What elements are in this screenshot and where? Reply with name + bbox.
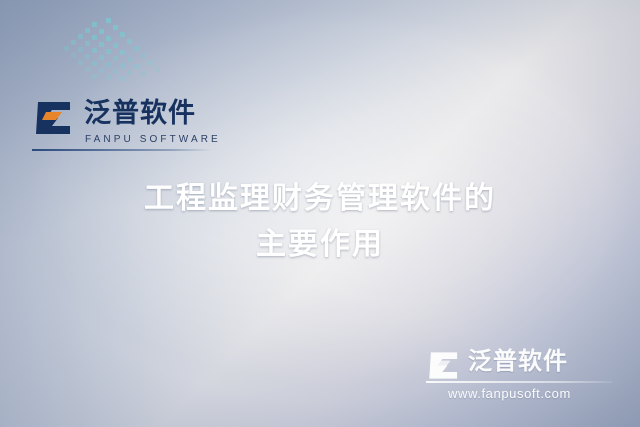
banner-image: 泛普软件 FANPU SOFTWARE 工程监理财务管理软件的 主要作用 泛普软… (0, 0, 640, 427)
headline-line-2: 主要作用 (0, 222, 640, 268)
watermark-divider (426, 381, 612, 383)
watermark: 泛普软件 www.fanpusoft.com (426, 347, 626, 409)
headline-line-1: 工程监理财务管理软件的 (0, 176, 640, 222)
watermark-logo-mark-icon (426, 349, 462, 382)
pixel-city-icon (62, 12, 172, 94)
headline: 工程监理财务管理软件的 主要作用 (0, 176, 640, 268)
brand-name-cn: 泛普软件 (84, 96, 196, 130)
brand-logo: 泛普软件 FANPU SOFTWARE (32, 96, 184, 158)
brand-divider (32, 149, 212, 151)
fanpu-logo-mark-icon (32, 98, 76, 138)
pixel-city-decoration (62, 12, 172, 94)
watermark-url: www.fanpusoft.com (448, 386, 571, 401)
watermark-brand-cn: 泛普软件 (468, 347, 568, 377)
brand-name-en: FANPU SOFTWARE (85, 134, 221, 145)
